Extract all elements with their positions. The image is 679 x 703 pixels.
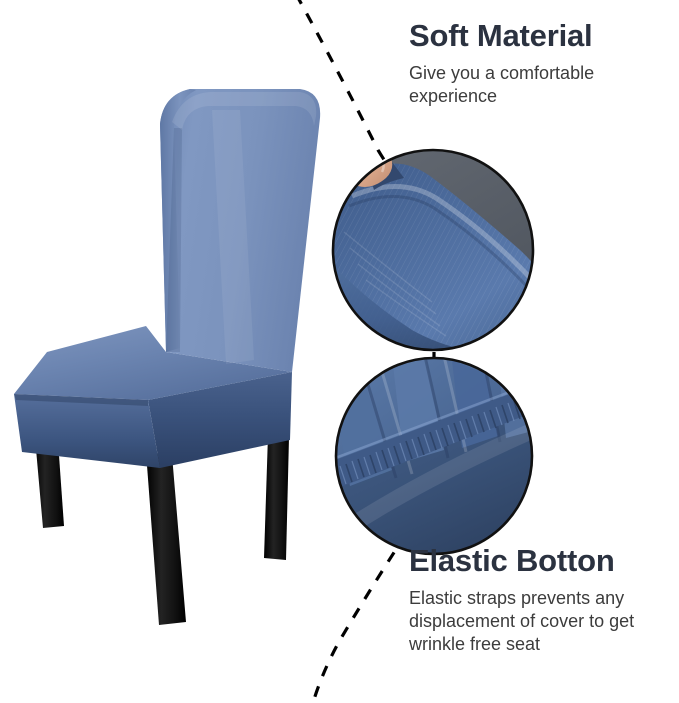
infographic-canvas: Soft Material Give you a comfortable exp…	[0, 0, 679, 703]
feature-description-elastic-botton: Elastic straps prevents any displacement…	[409, 587, 659, 656]
feature-elastic-botton: Elastic Botton Elastic straps prevents a…	[409, 545, 659, 656]
feature-soft-material: Soft Material Give you a comfortable exp…	[409, 20, 659, 108]
feature-description-soft-material: Give you a comfortable experience	[409, 62, 659, 108]
chair-leg-back-right	[264, 435, 289, 560]
feature-title-elastic-botton: Elastic Botton	[409, 545, 659, 578]
detail-circle-elastic-hem	[330, 352, 560, 561]
detail-circle-soft-material	[320, 145, 556, 360]
feature-title-soft-material: Soft Material	[409, 20, 659, 53]
connector-bottom-dashed-curve	[312, 534, 406, 703]
chair-leg-front	[146, 452, 186, 625]
chair-illustration	[14, 89, 320, 625]
